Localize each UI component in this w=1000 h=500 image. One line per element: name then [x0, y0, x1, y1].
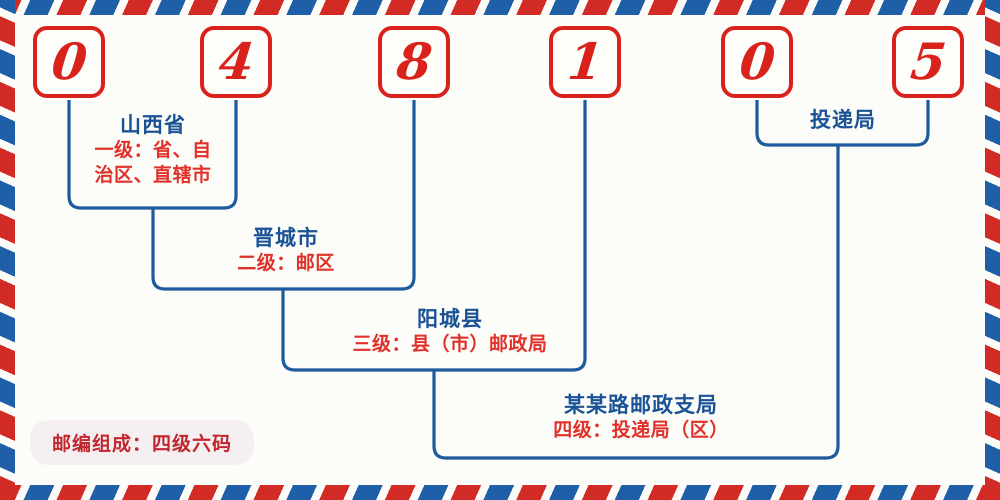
node-level-1-title: 山西省 — [68, 112, 238, 138]
node-level-4: 某某路邮政支局 四级：投递局（区） — [500, 392, 782, 443]
node-level-4-sub: 四级：投递局（区） — [500, 418, 782, 443]
node-delivery-office-title: 投递局 — [763, 107, 923, 133]
node-level-1-sub-line1: 一级：省、自 — [94, 139, 211, 161]
digit-cell-6[interactable]: 5 — [892, 26, 964, 98]
postal-code-diagram: 0 4 8 1 0 5 山西省 一级：省、自 治区、直辖市 晋城市 二级：邮区 … — [0, 0, 1000, 500]
node-level-4-sub-line1: 四级：投递局（区） — [553, 419, 729, 441]
node-level-3-title: 阳城县 — [318, 306, 582, 332]
envelope-border-bottom — [0, 485, 1000, 500]
digit-5-value: 0 — [737, 37, 777, 87]
digit-cell-5[interactable]: 0 — [721, 26, 793, 98]
digit-2-value: 4 — [216, 37, 256, 87]
digit-cell-3[interactable]: 8 — [378, 26, 450, 98]
digit-3-value: 8 — [394, 37, 434, 87]
node-level-2: 晋城市 二级：邮区 — [188, 225, 384, 276]
digit-4-value: 1 — [565, 37, 605, 87]
node-level-4-title: 某某路邮政支局 — [500, 392, 782, 418]
postal-code-composition-text: 邮编组成：四级六码 — [52, 433, 232, 455]
node-level-1: 山西省 一级：省、自 治区、直辖市 — [68, 112, 238, 188]
digit-cell-1[interactable]: 0 — [33, 26, 105, 98]
node-level-2-title: 晋城市 — [188, 225, 384, 251]
node-level-1-sub: 一级：省、自 治区、直辖市 — [68, 138, 238, 187]
digit-6-value: 5 — [908, 37, 948, 87]
envelope-border-top — [0, 0, 1000, 15]
digit-cell-2[interactable]: 4 — [200, 26, 272, 98]
node-delivery-office: 投递局 — [763, 107, 923, 133]
digit-cell-4[interactable]: 1 — [549, 26, 621, 98]
node-level-3-sub-line1: 三级：县（市）邮政局 — [352, 333, 547, 355]
node-level-2-sub-line1: 二级：邮区 — [237, 252, 335, 274]
postal-code-composition-badge: 邮编组成：四级六码 — [30, 420, 254, 465]
digit-1-value: 0 — [49, 37, 89, 87]
node-level-3: 阳城县 三级：县（市）邮政局 — [318, 306, 582, 357]
node-level-2-sub: 二级：邮区 — [188, 251, 384, 276]
envelope-border-left — [0, 0, 15, 500]
node-level-1-sub-line2: 治区、直辖市 — [68, 163, 238, 188]
node-level-3-sub: 三级：县（市）邮政局 — [318, 332, 582, 357]
envelope-border-right — [985, 0, 1000, 500]
